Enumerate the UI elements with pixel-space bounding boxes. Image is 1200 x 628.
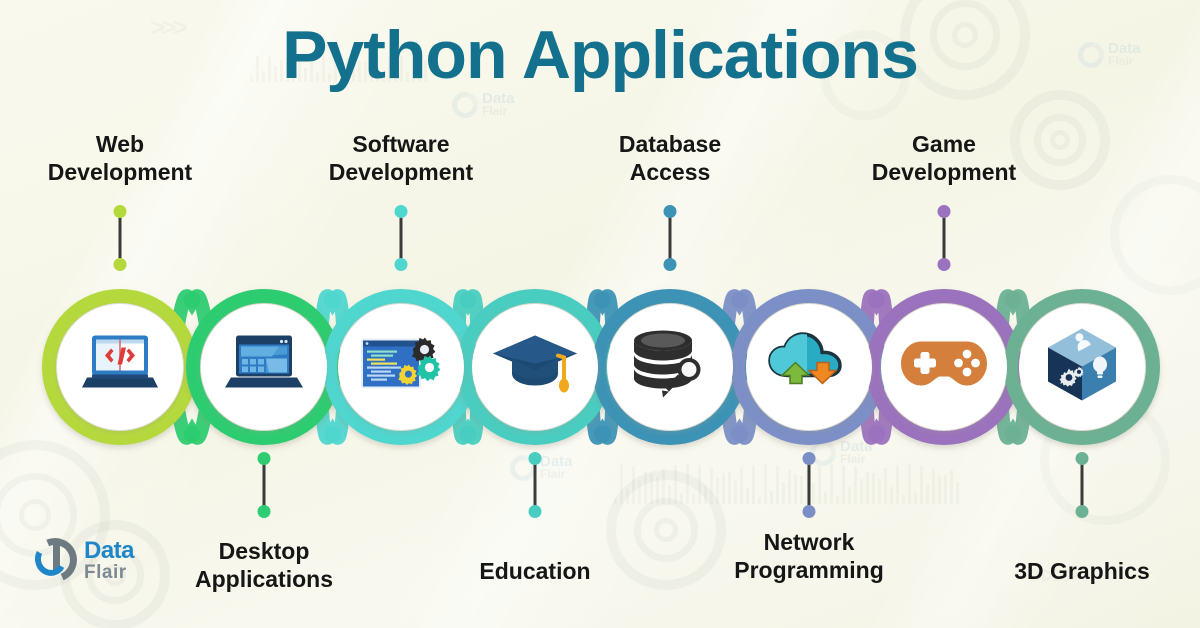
chain-junction-dot [731, 426, 748, 443]
cloud-transfer-icon [766, 332, 852, 403]
connector-dot [529, 452, 542, 465]
connector-desktop-applications [256, 452, 272, 518]
connector-dot [1076, 452, 1089, 465]
connector-dot [258, 452, 271, 465]
chain-junction-dot [1005, 292, 1022, 309]
connector-dot [529, 505, 542, 518]
cube-3d-icon [1042, 325, 1122, 410]
chain-junction-dot [868, 426, 885, 443]
connector-dot [114, 205, 127, 218]
chain-junction-dot [1005, 426, 1022, 443]
chain-junction-dot [731, 292, 748, 309]
label-network-programming: Network Programming [694, 528, 924, 584]
brand-wordmark: Data Flair [84, 539, 134, 582]
label-software-development: Software Development [286, 130, 516, 186]
connector-network-programming [801, 452, 817, 518]
brand-name-flair: Flair [84, 563, 134, 582]
connector-dot [258, 505, 271, 518]
graduation-cap-icon [492, 334, 578, 401]
dataflair-logo-icon [33, 538, 77, 582]
chain-junction-dot [184, 292, 201, 309]
gamepad-icon [899, 338, 989, 397]
chain-junction-dot [594, 292, 611, 309]
chain-junction-dot [184, 426, 201, 443]
chain-junction-dot [594, 426, 611, 443]
label-education: Education [420, 557, 650, 585]
connector-software-development [393, 205, 409, 271]
connector-dot [395, 205, 408, 218]
connector-database-access [662, 205, 678, 271]
infographic-canvas: Python Applications Web Development [0, 0, 1200, 628]
label-game-development: Game Development [829, 130, 1059, 186]
connector-dot [664, 258, 677, 271]
chain-junction-dot [460, 426, 477, 443]
label-database-access: Database Access [555, 130, 785, 186]
connector-dot [803, 505, 816, 518]
connector-dot [938, 258, 951, 271]
chain-junction-dot [460, 292, 477, 309]
connector-dot [395, 258, 408, 271]
brand-name-data: Data [84, 539, 134, 563]
label-desktop-applications: Desktop Applications [149, 537, 379, 593]
database-search-icon [629, 330, 711, 405]
connector-dot [938, 205, 951, 218]
chain-junction-dot [868, 292, 885, 309]
connector-web-development [112, 205, 128, 271]
code-window-gears-icon [359, 332, 443, 403]
connector-dot [803, 452, 816, 465]
laptop-code-icon [81, 334, 159, 401]
chain-junction-dot [324, 426, 341, 443]
connector-game-development [936, 205, 952, 271]
connector-dot [1076, 505, 1089, 518]
chain-junction-dot [324, 292, 341, 309]
chain-graphic [0, 0, 1200, 628]
label-3d-graphics: 3D Graphics [967, 557, 1197, 585]
laptop-dashboard-icon [224, 334, 304, 401]
connector-3d-graphics [1074, 452, 1090, 518]
connector-dot [114, 258, 127, 271]
brand-logo: Data Flair [33, 538, 134, 582]
connector-education [527, 452, 543, 518]
label-web-development: Web Development [5, 130, 235, 186]
connector-dot [664, 205, 677, 218]
